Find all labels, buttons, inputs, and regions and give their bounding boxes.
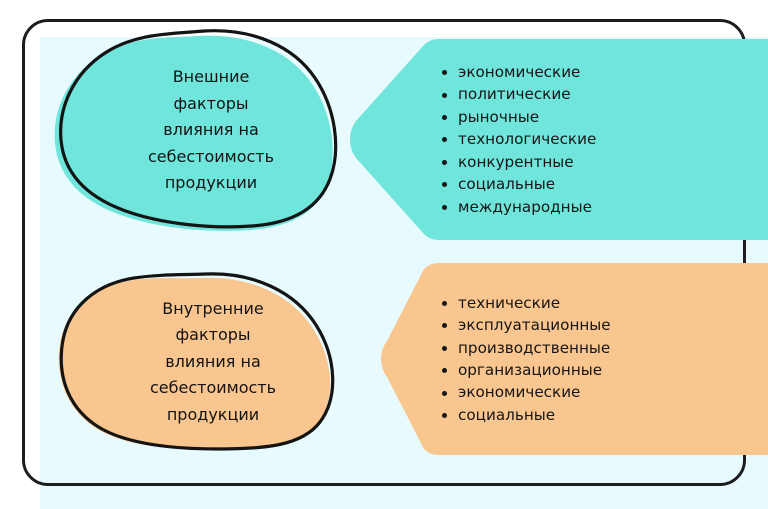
list-item: организационные xyxy=(438,359,768,381)
external-factors-list: экономическиеполитическиерыночныетехноло… xyxy=(438,61,768,218)
list-item: международные xyxy=(438,196,768,218)
internal-factors-arrow-panel: техническиеэксплуатационныепроизводствен… xyxy=(381,262,768,456)
external-factors-blob: Внешниефакторывлияния насебестоимостьпро… xyxy=(52,28,342,233)
list-item: социальные xyxy=(438,404,768,426)
list-item: экономические xyxy=(438,61,768,83)
internal-blob-fill xyxy=(59,278,330,450)
internal-factors-list-wrap: техническиеэксплуатационныепроизводствен… xyxy=(381,262,768,456)
list-item: социальные xyxy=(438,173,768,195)
internal-factors-blob: Внутренниефакторывлияния насебестоимость… xyxy=(52,272,342,452)
list-item: экономические xyxy=(438,381,768,403)
external-factors-list-wrap: экономическиеполитическиерыночныетехноло… xyxy=(350,38,768,241)
list-item: политические xyxy=(438,83,768,105)
external-factors-arrow-panel: экономическиеполитическиерыночныетехноло… xyxy=(350,38,768,241)
internal-factors-list: техническиеэксплуатационныепроизводствен… xyxy=(438,292,768,426)
list-item: рыночные xyxy=(438,106,768,128)
list-item: производственные xyxy=(438,337,768,359)
list-item: эксплуатационные xyxy=(438,314,768,336)
external-blob-fill xyxy=(55,36,333,231)
list-item: конкурентные xyxy=(438,151,768,173)
list-item: технологические xyxy=(438,128,768,150)
diagram-canvas: экономическиеполитическиерыночныетехноло… xyxy=(0,0,768,509)
list-item: технические xyxy=(438,292,768,314)
